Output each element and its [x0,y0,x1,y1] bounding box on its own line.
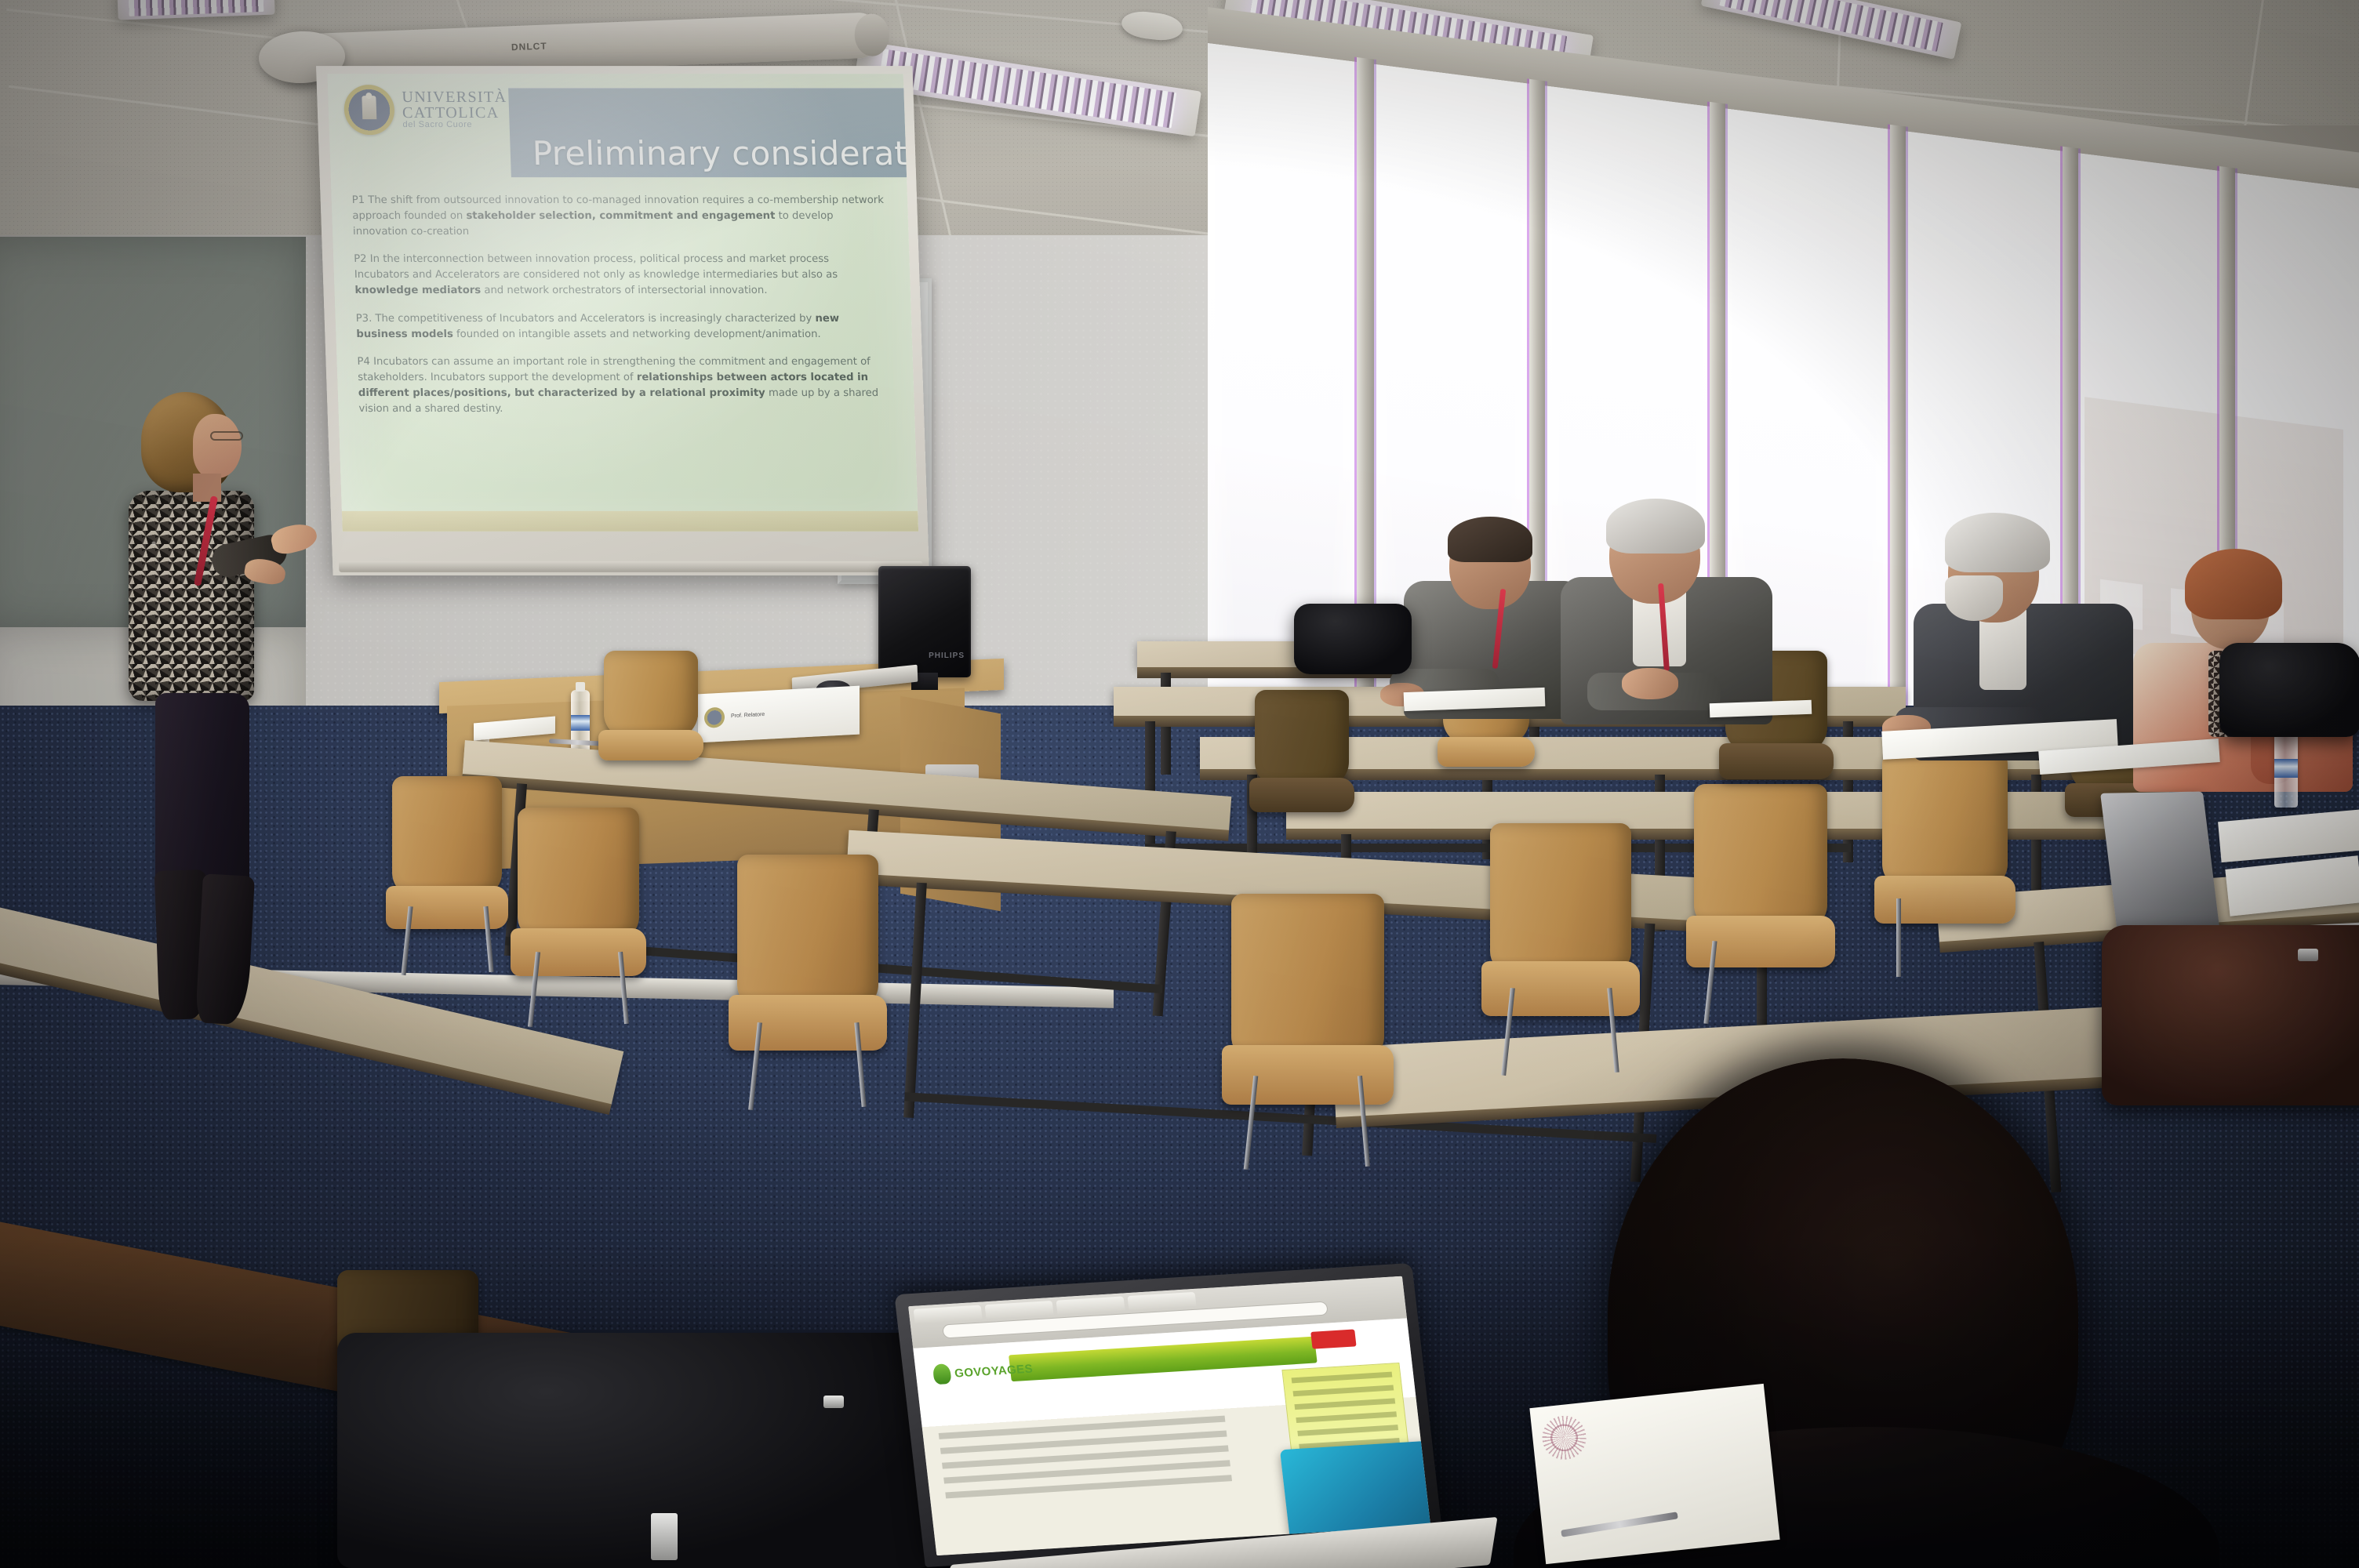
student-chair[interactable] [518,808,639,1023]
site-nav-bar[interactable] [1009,1337,1318,1382]
presenter-hand [269,520,320,557]
laptop-lid [2100,792,2221,942]
presenter [118,392,314,1019]
slide-paragraph-P3: P3. The competitiveness of Incubators an… [355,311,889,343]
attendee-beard [1945,575,2003,621]
student-chair[interactable] [1255,690,1349,847]
student-chair[interactable] [392,776,502,972]
student-chair[interactable] [737,855,878,1105]
slide-title-bar: Preliminary considerations [508,88,907,177]
browser-tab[interactable] [1127,1292,1196,1310]
attendee-hair [1606,499,1705,554]
student-chair[interactable] [1490,823,1631,1070]
university-seal-icon [343,85,395,135]
water-bottle[interactable] [571,690,590,756]
water-bottle[interactable] [2274,729,2298,808]
site-form-rows[interactable] [939,1416,1234,1508]
laptop-screen[interactable]: GOVOYAGES [908,1276,1430,1555]
browser-tab[interactable] [1056,1296,1125,1314]
monitor-screen [878,566,971,677]
logo-line-1: UNIVERSITÀ [402,90,507,106]
slide-title: Preliminary considerations [532,134,918,172]
name-tent-card[interactable]: Prof. Relatore [698,686,860,743]
leather-bag[interactable] [2102,925,2359,1105]
housing-brand-label: DNLCT [511,41,547,53]
university-logo: UNIVERSITÀ CATTOLICA del Sacro Cuore [343,85,508,135]
student-chair[interactable] [1882,753,2008,972]
site-wordmark: GOVOYAGES [954,1362,1034,1380]
desktop-monitor[interactable]: PHILIPS [878,566,971,677]
foreground-laptop[interactable]: GOVOYAGES [910,1278,1490,1568]
leaf-icon [932,1363,952,1385]
student-chair[interactable] [1694,784,1827,1019]
tent-card-logo-icon [704,707,725,728]
slide-footer-band [342,511,918,532]
presenter-boot [195,873,255,1025]
attendee-bag[interactable] [1294,604,1412,674]
notebook-cover-pattern [1540,1414,1589,1462]
classroom-photo-scene: DNLCT UNIVERSITÀ CATTOLICA del Sacro Cuo… [0,0,2359,1568]
attendee-hair [1448,517,1532,562]
slide-paragraph-P2: P2 In the interconnection between innova… [354,252,887,298]
tent-card-name: Prof. Relatore [731,712,765,720]
laptop-lid: GOVOYAGES [894,1263,1442,1567]
glasses-icon [210,431,243,441]
site-promo-badge[interactable] [1310,1329,1356,1348]
attendee-hair [1945,513,2050,572]
browser-tab[interactable] [985,1301,1054,1319]
attendee-hair [2185,549,2282,619]
slide-paragraph-P4: P4 Incubators can assume an important ro… [357,354,891,416]
spiral-notebook[interactable] [1529,1384,1779,1564]
desk-chair[interactable] [604,651,698,792]
browser-tab[interactable] [914,1305,983,1323]
presentation-slide: UNIVERSITÀ CATTOLICA del Sacro Cuore Pre… [327,74,918,532]
student-chair[interactable] [1231,894,1384,1164]
attendee-bag[interactable] [2219,643,2359,737]
projection-screen: UNIVERSITÀ CATTOLICA del Sacro Cuore Pre… [316,66,929,575]
monitor-brand-label: PHILIPS [929,652,965,660]
travel-website: GOVOYAGES [913,1318,1430,1555]
logo-line-3: del Sacro Cuore [402,121,507,129]
backpack[interactable] [337,1333,933,1568]
attendee-hand [1622,668,1678,699]
slide-paragraph-P1: P1 The shift from outsourced innovation … [351,193,885,239]
presenter-jacket [129,491,254,701]
attendee [1561,502,1796,721]
presenter-face [193,414,242,478]
attendee [1914,517,2149,753]
slide-body-text: P1 The shift from outsourced innovation … [351,193,891,429]
logo-line-2: CATTOLICA [402,106,508,122]
